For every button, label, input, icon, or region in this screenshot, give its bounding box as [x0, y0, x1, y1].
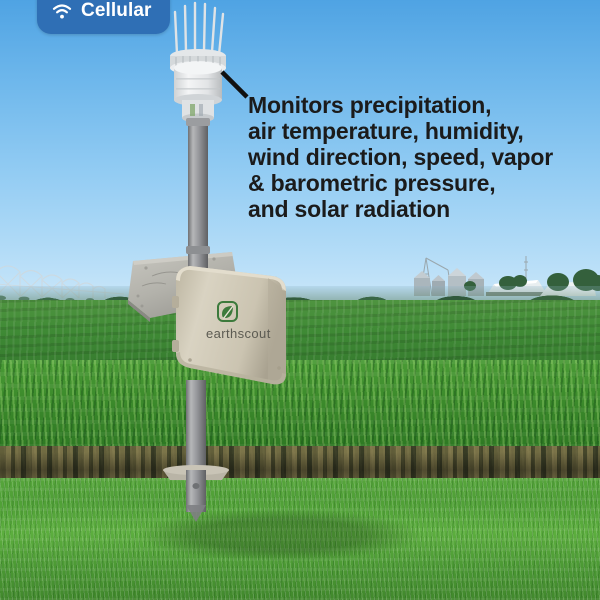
callout-line-3: wind direction, speed, vapor — [248, 144, 588, 170]
product-photo-scene: earthscout Monitors precipitation, air t… — [0, 0, 600, 600]
callout-line-5: and solar radiation — [248, 196, 588, 222]
callout-line-2: air temperature, humidity, — [248, 118, 588, 144]
cellular-badge[interactable]: Cellular — [37, 0, 170, 34]
wifi-signal-icon — [51, 1, 73, 23]
cellular-badge-label: Cellular — [81, 0, 152, 24]
callout-line-1: Monitors precipitation, — [248, 92, 588, 118]
callout-leader-line — [0, 0, 600, 600]
callout-line-4: & barometric pressure, — [248, 170, 588, 196]
callout-text-block: Monitors precipitation, air temperature,… — [248, 92, 588, 222]
